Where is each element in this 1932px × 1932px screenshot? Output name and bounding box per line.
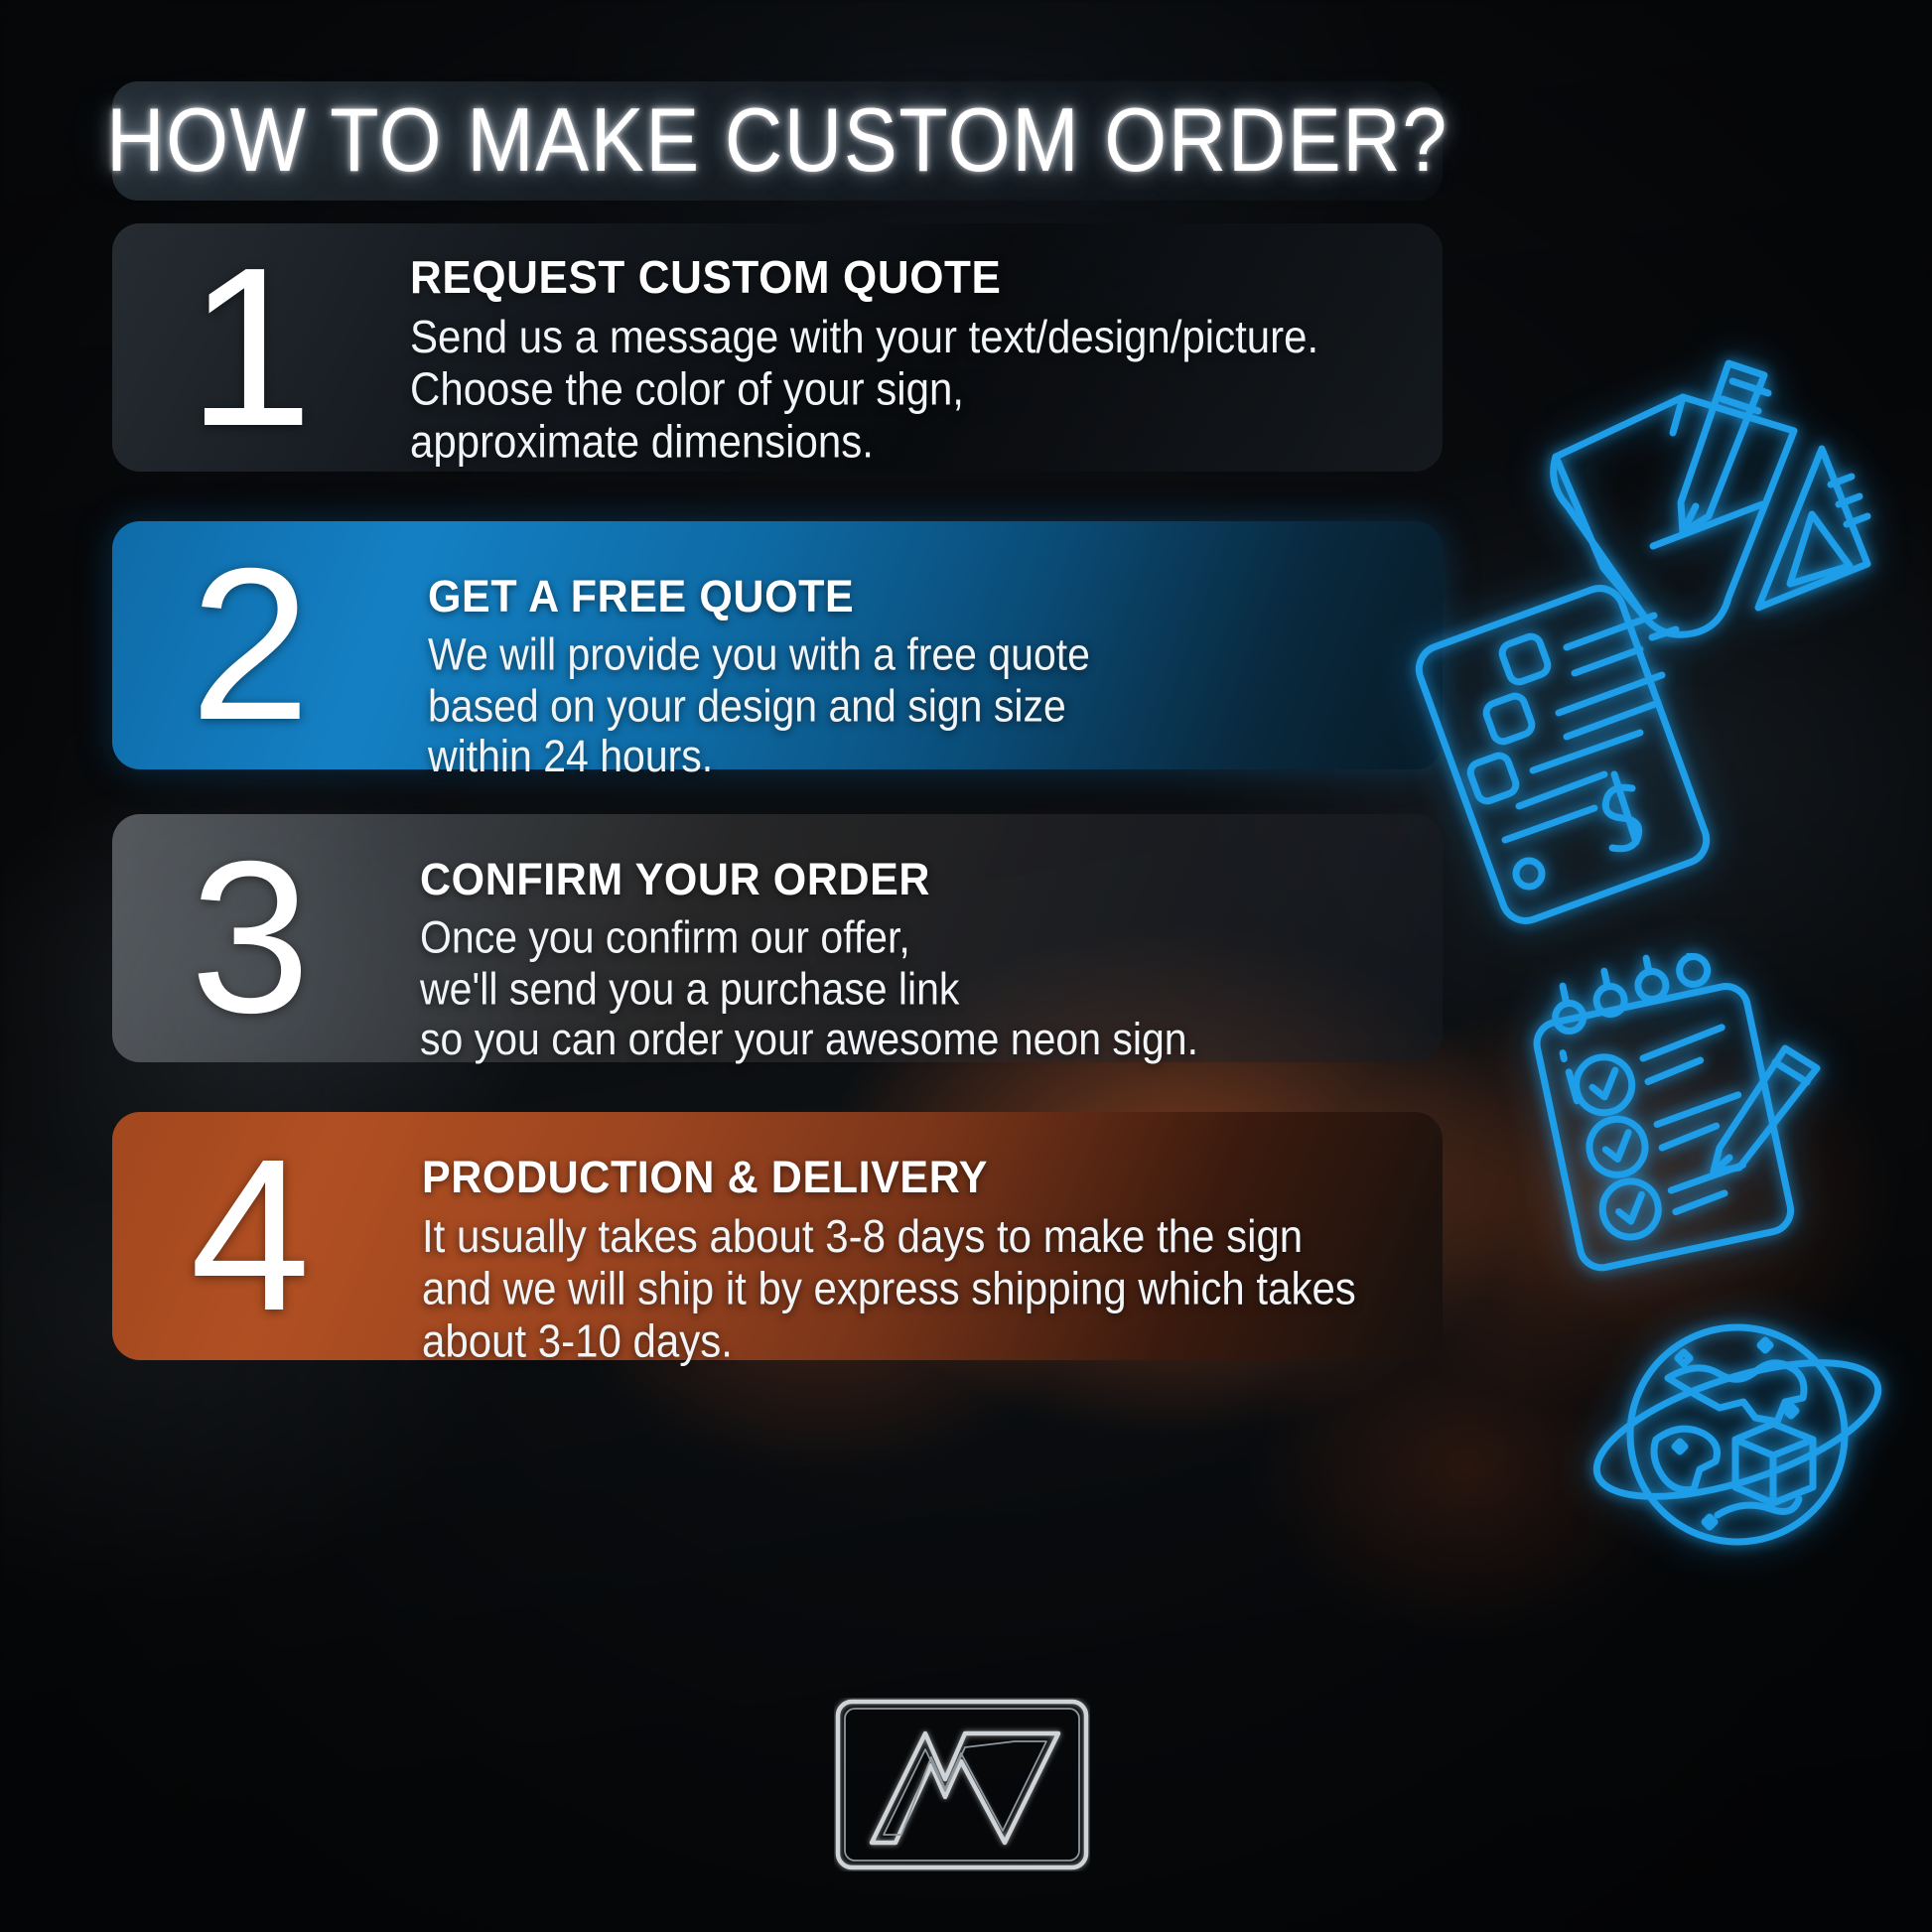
invoice-tablet-dollar-icon (1410, 576, 1747, 933)
step-card-3[interactable]: 3 CONFIRM YOUR ORDER Once you confirm ou… (112, 814, 1443, 1062)
step-3-line-3: so you can order your awesome neon sign. (420, 1015, 1417, 1065)
step-4-line-2: and we will ship it by express shipping … (422, 1263, 1417, 1315)
step-4-line-3: about 3-10 days. (422, 1314, 1417, 1367)
checklist-notepad-pencil-icon (1509, 953, 1847, 1281)
step-number-4: 4 (156, 1108, 345, 1364)
step-title-1: REQUEST CUSTOM QUOTE (410, 252, 1417, 305)
step-title-2: GET A FREE QUOTE (428, 572, 1417, 623)
step-2-line-2: based on your design and sign size (428, 680, 1417, 731)
step-2-line-1: We will provide you with a free quote (428, 629, 1417, 680)
step-card-2[interactable]: 2 GET A FREE QUOTE We will provide you w… (112, 521, 1443, 769)
step-content-4: PRODUCTION & DELIVERY It usually takes a… (422, 1154, 1417, 1353)
step-3-line-1: Once you confirm our offer, (420, 912, 1417, 963)
step-title-4: PRODUCTION & DELIVERY (422, 1153, 1417, 1204)
step-card-1[interactable]: 1 REQUEST CUSTOM QUOTE Send us a message… (112, 223, 1443, 472)
step-description-2: We will provide you with a free quote ba… (428, 629, 1417, 782)
step-description-4: It usually takes about 3-8 days to make … (422, 1210, 1417, 1367)
step-4-line-1: It usually takes about 3-8 days to make … (422, 1210, 1417, 1263)
w-monogram-neon-logo (834, 1698, 1090, 1871)
step-content-3: CONFIRM YOUR ORDER Once you confirm our … (420, 856, 1417, 1051)
infographic-frame: HOW TO MAKE CUSTOM ORDER? 1 REQUEST CUST… (0, 0, 1932, 1932)
globe-package-shipping-icon (1588, 1291, 1886, 1579)
step-description-3: Once you confirm our offer, we'll send y… (420, 912, 1417, 1065)
step-card-4[interactable]: 4 PRODUCTION & DELIVERY It usually takes… (112, 1112, 1443, 1360)
step-2-line-3: within 24 hours. (428, 732, 1417, 782)
page-title: HOW TO MAKE CUSTOM ORDER? (112, 74, 1443, 207)
step-content-1: REQUEST CUSTOM QUOTE Send us a message w… (410, 253, 1417, 454)
step-number-1: 1 (156, 219, 345, 476)
step-description-1: Send us a message with your text/design/… (410, 311, 1417, 468)
step-content-2: GET A FREE QUOTE We will provide you wit… (428, 573, 1417, 768)
step-1-line-3: approximate dimensions. (410, 415, 1417, 468)
step-3-line-2: we'll send you a purchase link (420, 963, 1417, 1014)
sketch-pencil-ruler-icon (1534, 338, 1881, 665)
step-1-line-1: Send us a message with your text/design/… (410, 311, 1417, 363)
step-1-line-2: Choose the color of your sign, (410, 363, 1417, 416)
step-title-3: CONFIRM YOUR ORDER (420, 855, 1417, 906)
step-number-2: 2 (156, 517, 345, 773)
step-number-3: 3 (156, 810, 345, 1066)
